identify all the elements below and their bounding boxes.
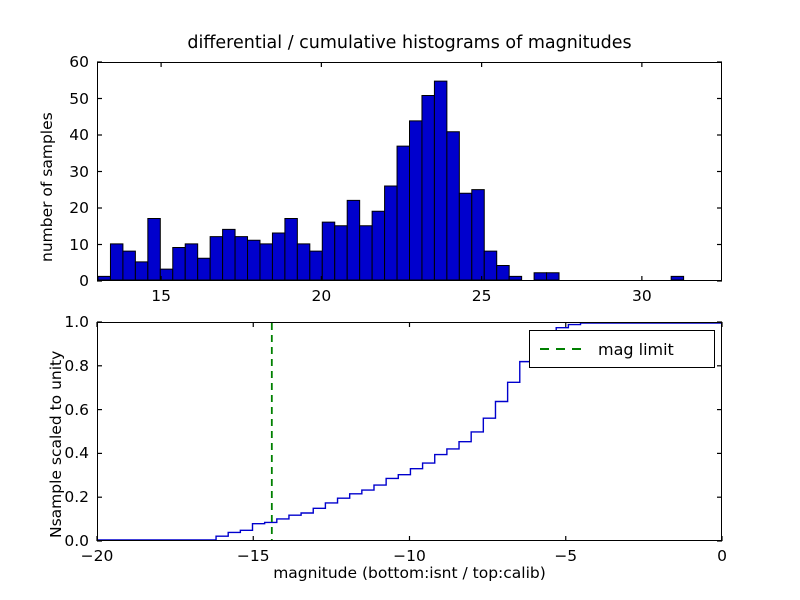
histogram-bar (148, 219, 160, 280)
histogram-bar (260, 244, 272, 280)
legend[interactable]: mag limit (529, 330, 715, 368)
histogram-bar (335, 226, 347, 280)
xtick-label: 30 (632, 287, 652, 305)
bottom-plot-xlabel: magnitude (bottom:isnt / top:calib) (97, 564, 722, 582)
page-title: differential / cumulative histograms of … (97, 33, 722, 53)
ytick-label: 0 (35, 272, 89, 290)
figure-canvas: differential / cumulative histograms of … (0, 0, 800, 600)
histogram-bar (248, 240, 260, 280)
histogram-bar (434, 81, 446, 280)
ytick-label: 0.4 (35, 444, 89, 462)
histogram-bar (322, 222, 334, 280)
histogram-bar (123, 251, 135, 280)
histogram-bar (447, 132, 459, 280)
histogram-bar (397, 146, 409, 280)
histogram-bar (547, 273, 559, 280)
histogram-bar (98, 276, 110, 280)
xtick-label: 0 (717, 547, 727, 565)
histogram-bar (285, 219, 297, 280)
differential-histogram-plot (98, 63, 721, 280)
ytick-label: 0.2 (35, 488, 89, 506)
xtick-label: 20 (311, 287, 331, 305)
xtick-label: 25 (472, 287, 492, 305)
ytick-label: 60 (35, 53, 89, 71)
mag-limit-line-icon (540, 348, 584, 350)
histogram-bar (173, 247, 185, 280)
histogram-bar (185, 244, 197, 280)
xtick-label: −15 (237, 547, 270, 565)
histogram-bar (310, 251, 322, 280)
histogram-bar (160, 269, 172, 280)
histogram-bar (472, 190, 484, 280)
ytick-label: 0.8 (35, 357, 89, 375)
ytick-label: 1.0 (35, 313, 89, 331)
histogram-bar (297, 244, 309, 280)
legend-item-label: mag limit (598, 340, 674, 359)
ytick-label: 0.6 (35, 401, 89, 419)
histogram-bar (372, 211, 384, 280)
histogram-bar (459, 193, 471, 280)
histogram-bar (484, 251, 496, 280)
ytick-label: 10 (35, 236, 89, 254)
histogram-bar (509, 276, 521, 280)
histogram-bar (210, 237, 222, 280)
histogram-bar (223, 229, 235, 280)
histogram-bar (671, 276, 683, 280)
histogram-bar (385, 186, 397, 280)
histogram-bar (534, 273, 546, 280)
histogram-bar (235, 237, 247, 280)
histogram-bar (198, 258, 210, 280)
ytick-label: 20 (35, 199, 89, 217)
histogram-bar (410, 121, 422, 280)
histogram-bar (110, 244, 122, 280)
xtick-label: 15 (151, 287, 171, 305)
histogram-bar (272, 233, 284, 280)
xtick-label: −5 (554, 547, 577, 565)
ytick-label: 40 (35, 126, 89, 144)
histogram-bar (135, 262, 147, 280)
histogram-bar (360, 226, 372, 280)
histogram-bar (497, 266, 509, 280)
histogram-bar (347, 200, 359, 280)
differential-histogram-axes (97, 62, 722, 281)
histogram-bar (422, 96, 434, 280)
ytick-label: 30 (35, 163, 89, 181)
xtick-label: −10 (393, 547, 426, 565)
xtick-label: −20 (81, 547, 114, 565)
ytick-label: 50 (35, 90, 89, 108)
